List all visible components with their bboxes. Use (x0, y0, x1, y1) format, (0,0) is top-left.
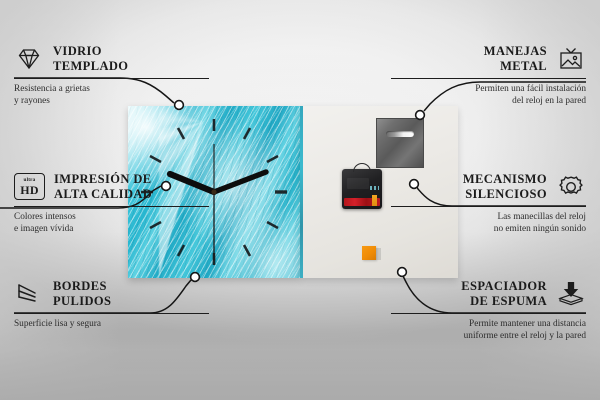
feature-divider (391, 206, 586, 207)
feature-divider (14, 206, 209, 207)
feature-vidrio-templado: VIDRIO TEMPLADO Resistencia a grietas y … (14, 44, 209, 107)
mechanism-hanging-loop (353, 163, 371, 172)
feature-divider (14, 78, 209, 79)
feature-espaciador-espuma: ESPACIADOR DE ESPUMA Permite mantener un… (391, 279, 586, 342)
feature-divider (391, 313, 586, 314)
mechanism-label-text (370, 186, 379, 190)
feature-header: ultra HD IMPRESIÓN DE ALTA CALIDAD (14, 172, 209, 205)
wall-hanger-frame-icon (556, 45, 586, 73)
arrow-down-into-foam-icon (556, 280, 586, 308)
polished-edges-icon (14, 280, 44, 308)
foam-spacer (362, 246, 376, 260)
battery (344, 198, 380, 206)
feature-subtitle: Resistencia a grietas y rayones (14, 83, 209, 108)
feature-title: VIDRIO TEMPLADO (53, 44, 128, 74)
feature-impresion-alta-calidad: ultra HD IMPRESIÓN DE ALTA CALIDAD Color… (14, 172, 209, 235)
feature-header: ESPACIADOR DE ESPUMA (391, 279, 586, 312)
clock-mechanism (342, 169, 382, 209)
mechanism-housing-detail (347, 178, 369, 189)
gear-icon (556, 173, 586, 201)
ultra-hd-badge-icon: ultra HD (14, 173, 45, 200)
feature-title: MANEJAS METAL (484, 44, 547, 74)
feature-subtitle: Colores intensos e imagen vívida (14, 211, 209, 236)
feature-title: BORDES PULIDOS (53, 279, 111, 309)
feature-title: ESPACIADOR DE ESPUMA (461, 279, 547, 309)
infographic-canvas: VIDRIO TEMPLADO Resistencia a grietas y … (0, 0, 600, 400)
badge-hd-label: HD (20, 184, 39, 196)
feature-header: MECANISMO SILENCIOSO (391, 172, 586, 205)
feature-title: MECANISMO SILENCIOSO (463, 172, 547, 202)
feature-header: MANEJAS METAL (391, 44, 586, 77)
feature-mecanismo-silencioso: MECANISMO SILENCIOSO Las manecillas del … (391, 172, 586, 235)
glass-edge-turquoise (300, 106, 303, 278)
feature-divider (14, 313, 209, 314)
feature-subtitle: Permiten una fácil instalación del reloj… (391, 83, 586, 108)
feature-manejas-metal: MANEJAS METAL Permiten una fácil instala… (391, 44, 586, 107)
hanger-slot (386, 131, 414, 137)
feature-bordes-pulidos: BORDES PULIDOS Superficie lisa y segura (14, 279, 209, 330)
metal-hanger-plate (376, 118, 424, 168)
feature-header: VIDRIO TEMPLADO (14, 44, 209, 77)
feature-subtitle: Permite mantener una distancia uniforme … (391, 318, 586, 343)
feature-title: IMPRESIÓN DE ALTA CALIDAD (54, 172, 152, 202)
feature-divider (391, 78, 586, 79)
feature-subtitle: Las manecillas del reloj no emiten ningú… (391, 211, 586, 236)
feature-subtitle: Superficie lisa y segura (14, 318, 209, 330)
feature-header: BORDES PULIDOS (14, 279, 209, 312)
diamond-icon (14, 45, 44, 73)
